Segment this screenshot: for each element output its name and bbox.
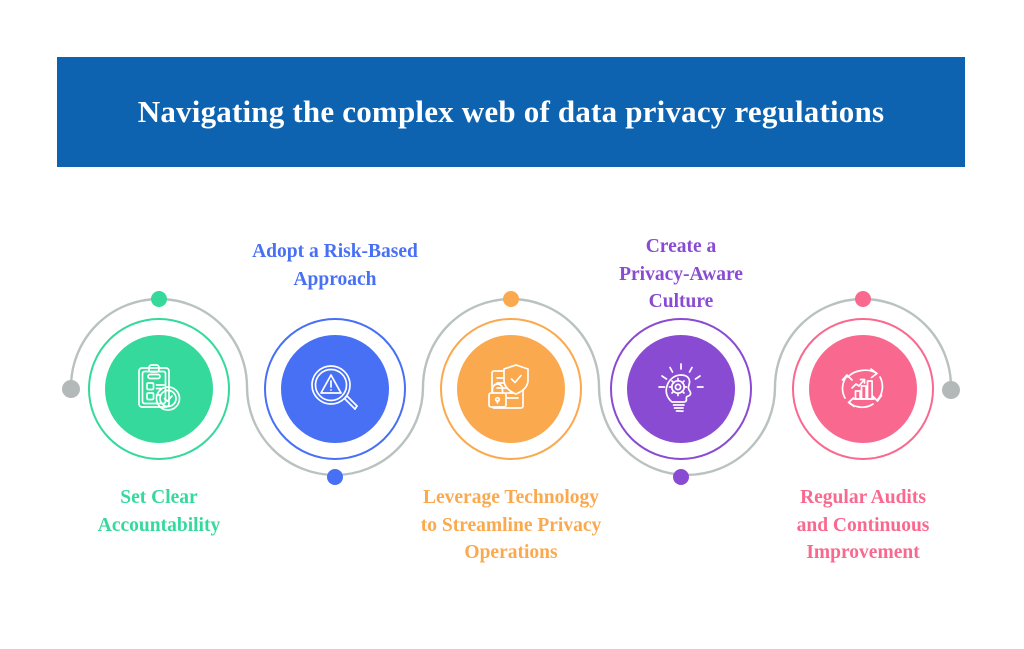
step-circle-3[interactable] [440, 318, 582, 460]
clipboard-check-icon [128, 358, 190, 420]
step-disc-2 [281, 335, 389, 443]
flow-dot-step-3 [503, 291, 519, 307]
document-lock-shield-icon [480, 358, 542, 420]
step-label-3: Leverage Technology to Streamline Privac… [386, 484, 636, 567]
flow-dot-step-4 [673, 469, 689, 485]
step-label-2: Adopt a Risk-Based Approach [210, 238, 460, 293]
step-disc-5 [809, 335, 917, 443]
step-circle-5[interactable] [792, 318, 934, 460]
flow-dot-step-5 [855, 291, 871, 307]
magnifier-warning-icon [304, 358, 366, 420]
step-circle-2[interactable] [264, 318, 406, 460]
step-circle-4[interactable] [610, 318, 752, 460]
flow-end-dot [942, 381, 960, 399]
step-disc-3 [457, 335, 565, 443]
infographic-canvas: Navigating the complex web of data priva… [0, 0, 1024, 649]
header-banner: Navigating the complex web of data priva… [57, 57, 965, 167]
chart-refresh-icon [832, 358, 894, 420]
step-disc-1 [105, 335, 213, 443]
page-title: Navigating the complex web of data priva… [138, 91, 884, 132]
step-label-1: Set Clear Accountability [34, 484, 284, 539]
lightbulb-gear-head-icon [650, 358, 712, 420]
flow-start-dot [62, 380, 80, 398]
step-disc-4 [627, 335, 735, 443]
flow-dot-step-2 [327, 469, 343, 485]
flow-dot-step-1 [151, 291, 167, 307]
step-circle-1[interactable] [88, 318, 230, 460]
step-label-5: Regular Audits and Continuous Improvemen… [738, 484, 988, 567]
step-label-4: Create a Privacy-Aware Culture [556, 233, 806, 316]
